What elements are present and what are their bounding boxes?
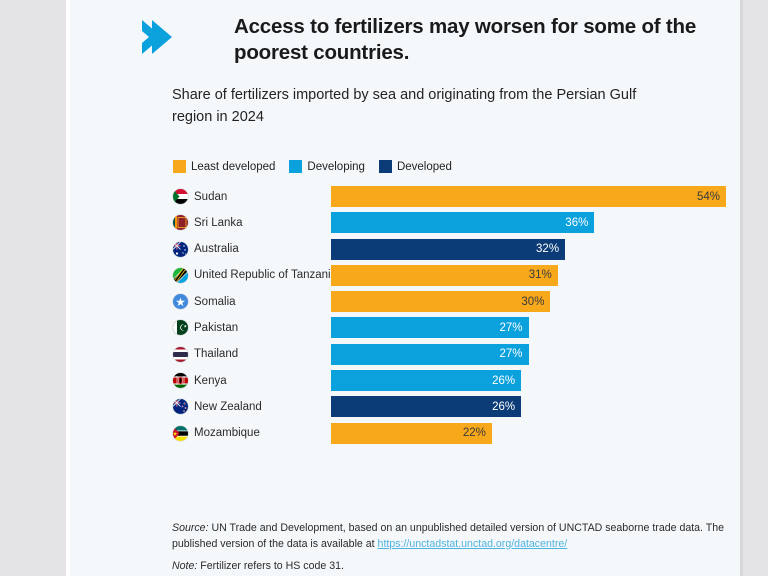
chart-card: Access to fertilizers may worsen for som… [70, 0, 740, 576]
flag-mozambique-icon [173, 426, 188, 441]
country-name: Mozambique [194, 427, 260, 439]
source-prefix: Source: [172, 522, 209, 534]
bar-value-label: 26% [492, 375, 521, 387]
flag-kenya-icon [173, 373, 188, 388]
legend-swatch-icon [289, 160, 302, 173]
chart-row: Sudan54% [70, 186, 768, 212]
chart-row: Sri Lanka36% [70, 212, 768, 238]
country-label: Sudan [173, 186, 227, 207]
chart-row: New Zealand26% [70, 396, 768, 422]
note-line: Note: Fertilizer refers to HS code 31. [172, 559, 732, 575]
country-label: Pakistan [173, 317, 238, 338]
bar-track: 54% [331, 186, 726, 207]
country-name: Kenya [194, 375, 227, 387]
bar-track: 36% [331, 212, 594, 233]
country-label: Thailand [173, 344, 238, 365]
bar-value-label: 36% [565, 217, 594, 229]
country-name: Thailand [194, 348, 238, 360]
bar[interactable]: 32% [331, 239, 565, 260]
bar[interactable]: 26% [331, 396, 521, 417]
flag-sudan-icon [173, 189, 188, 204]
flag-new-zealand-icon [173, 399, 188, 414]
bar-track: 22% [331, 423, 492, 444]
legend-label: Developing [307, 161, 365, 173]
legend-swatch-icon [379, 160, 392, 173]
country-label: New Zealand [173, 396, 262, 417]
country-name: Sri Lanka [194, 217, 243, 229]
chart-footnotes: Source: UN Trade and Development, based … [172, 521, 732, 575]
country-label: Mozambique [173, 423, 260, 444]
bar-value-label: 54% [697, 191, 726, 203]
bar-value-label: 22% [463, 427, 492, 439]
country-name: Somalia [194, 296, 236, 308]
chevron-right-icon [138, 16, 180, 58]
chart-row: Somalia30% [70, 291, 768, 317]
bar[interactable]: 36% [331, 212, 594, 233]
bar-chart: Sudan54%Sri Lanka36%Australia32%United R… [70, 186, 768, 449]
flag-somalia-icon [173, 294, 188, 309]
bar[interactable]: 27% [331, 344, 529, 365]
flag-australia-icon [173, 242, 188, 257]
legend-label: Developed [397, 161, 452, 173]
legend-item-least-developed[interactable]: Least developed [173, 160, 275, 173]
flag-thailand-icon [173, 347, 188, 362]
bar-value-label: 30% [521, 296, 550, 308]
country-label: United Republic of Tanzania [173, 265, 337, 286]
country-label: Australia [173, 239, 239, 260]
legend-item-developing[interactable]: Developing [289, 160, 365, 173]
legend-item-developed[interactable]: Developed [379, 160, 452, 173]
country-name: Pakistan [194, 322, 238, 334]
bar[interactable]: 54% [331, 186, 726, 207]
note-prefix: Note: [172, 560, 197, 572]
chart-page: Access to fertilizers may worsen for som… [0, 0, 768, 576]
source-line: Source: UN Trade and Development, based … [172, 521, 732, 552]
country-label: Kenya [173, 370, 227, 391]
country-name: New Zealand [194, 401, 262, 413]
country-name: Australia [194, 243, 239, 255]
bar-value-label: 27% [499, 322, 528, 334]
bar-track: 32% [331, 239, 565, 260]
chart-row: Thailand27% [70, 344, 768, 370]
bar[interactable]: 30% [331, 291, 550, 312]
bar-track: 27% [331, 317, 529, 338]
country-label: Somalia [173, 291, 236, 312]
chart-legend: Least developed Developing Developed [173, 160, 452, 173]
bar-track: 26% [331, 396, 521, 417]
legend-swatch-icon [173, 160, 186, 173]
bar-value-label: 26% [492, 401, 521, 413]
flag-sri-lanka-icon [173, 215, 188, 230]
card-right-edge [740, 0, 743, 576]
source-link[interactable]: https://unctadstat.unctad.org/datacentre… [378, 538, 568, 550]
page-subtitle: Share of fertilizers imported by sea and… [172, 84, 672, 128]
note-text: Fertilizer refers to HS code 31. [200, 560, 344, 572]
country-label: Sri Lanka [173, 212, 243, 233]
chart-row: Kenya26% [70, 370, 768, 396]
country-name: United Republic of Tanzania [194, 269, 337, 281]
chart-row: Pakistan27% [70, 317, 768, 343]
chart-row: United Republic of Tanzania31% [70, 265, 768, 291]
bar[interactable]: 31% [331, 265, 558, 286]
bar-value-label: 27% [499, 348, 528, 360]
bar[interactable]: 27% [331, 317, 529, 338]
bar-track: 30% [331, 291, 550, 312]
country-name: Sudan [194, 191, 227, 203]
chart-row: Mozambique22% [70, 423, 768, 449]
bar[interactable]: 26% [331, 370, 521, 391]
page-title: Access to fertilizers may worsen for som… [234, 14, 704, 66]
flag-pakistan-icon [173, 320, 188, 335]
legend-label: Least developed [191, 161, 275, 173]
bar-value-label: 32% [536, 243, 565, 255]
bar-track: 27% [331, 344, 529, 365]
flag-tanzania-icon [173, 268, 188, 283]
bar-track: 26% [331, 370, 521, 391]
chart-row: Australia32% [70, 239, 768, 265]
bar[interactable]: 22% [331, 423, 492, 444]
bar-track: 31% [331, 265, 558, 286]
bar-value-label: 31% [529, 269, 558, 281]
